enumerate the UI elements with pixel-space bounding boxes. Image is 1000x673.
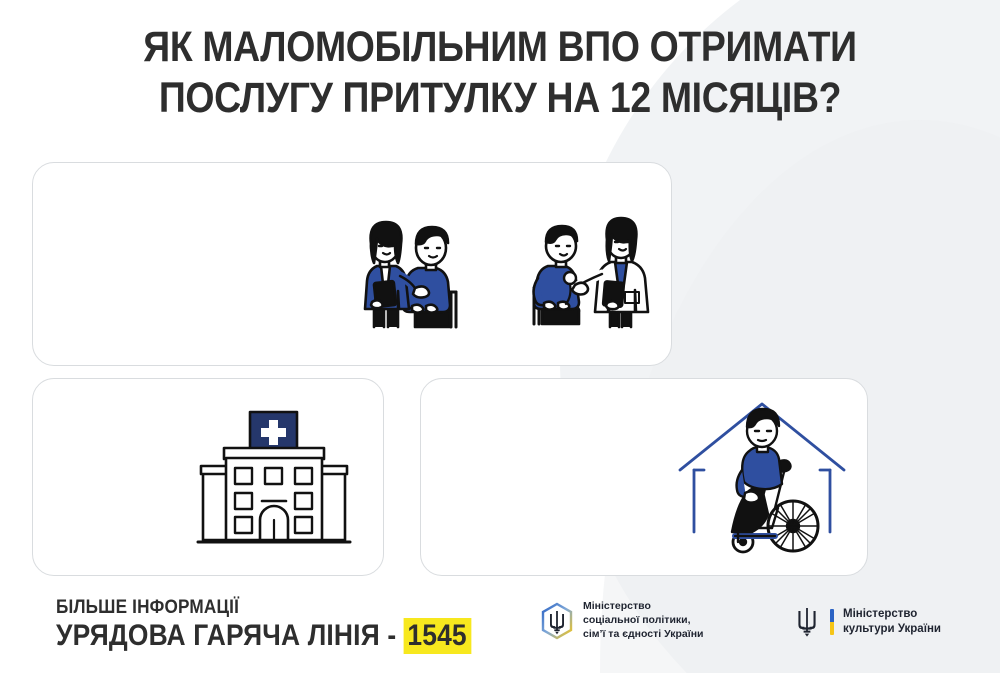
- page-title-line-1: ЯК МАЛОМОБІЛЬНИМ ВПО ОТРИМАТИ: [65, 22, 935, 73]
- footer-more-info-label: БІЛЬШЕ ІНФОРМАЦІЇ: [56, 596, 471, 618]
- hospital-building-illustration: [188, 398, 360, 558]
- page-title-line-2: ПОСЛУГУ ПРИТУЛКУ НА 12 МІСЯЦІВ?: [65, 73, 935, 124]
- ministry-of-social-policy-logo: Міністерство соціальної політики, сім’ї …: [540, 600, 704, 642]
- culture-logo-line-1: Міністерство: [843, 607, 941, 622]
- ukraine-trident-hexagon-emblem: [540, 602, 574, 640]
- social-logo-line-3: сім’ї та єдності України: [583, 628, 704, 642]
- footer-hotline-number[interactable]: 1545: [404, 618, 471, 654]
- social-worker-interview-illustration: [352, 196, 512, 338]
- wheelchair-user-house-illustration: [672, 396, 852, 568]
- doctor-examination-illustration: [512, 196, 672, 338]
- footer-hotline-label: УРЯДОВА ГАРЯЧА ЛІНІЯ -: [56, 619, 404, 652]
- footer-hotline: УРЯДОВА ГАРЯЧА ЛІНІЯ - 1545: [56, 619, 471, 653]
- footer-contact-block: БІЛЬШЕ ІНФОРМАЦІЇ УРЯДОВА ГАРЯЧА ЛІНІЯ -…: [56, 596, 471, 653]
- social-logo-line-1: Міністерство: [583, 600, 704, 614]
- infographic-canvas: ЯК МАЛОМОБІЛЬНИМ ВПО ОТРИМАТИ ПОСЛУГУ ПР…: [0, 0, 1000, 673]
- ministry-of-culture-logo: Міністерство культури України: [793, 606, 941, 638]
- ministry-of-culture-name: Міністерство культури України: [843, 607, 941, 637]
- ukraine-trident-emblem: [793, 606, 821, 638]
- social-logo-line-2: соціальної політики,: [583, 614, 704, 628]
- ministry-of-social-policy-name: Міністерство соціальної політики, сім’ї …: [583, 600, 704, 642]
- page-title: ЯК МАЛОМОБІЛЬНИМ ВПО ОТРИМАТИ ПОСЛУГУ ПР…: [65, 22, 935, 123]
- culture-logo-line-2: культури України: [843, 622, 941, 637]
- ukraine-flag-divider: [830, 609, 834, 635]
